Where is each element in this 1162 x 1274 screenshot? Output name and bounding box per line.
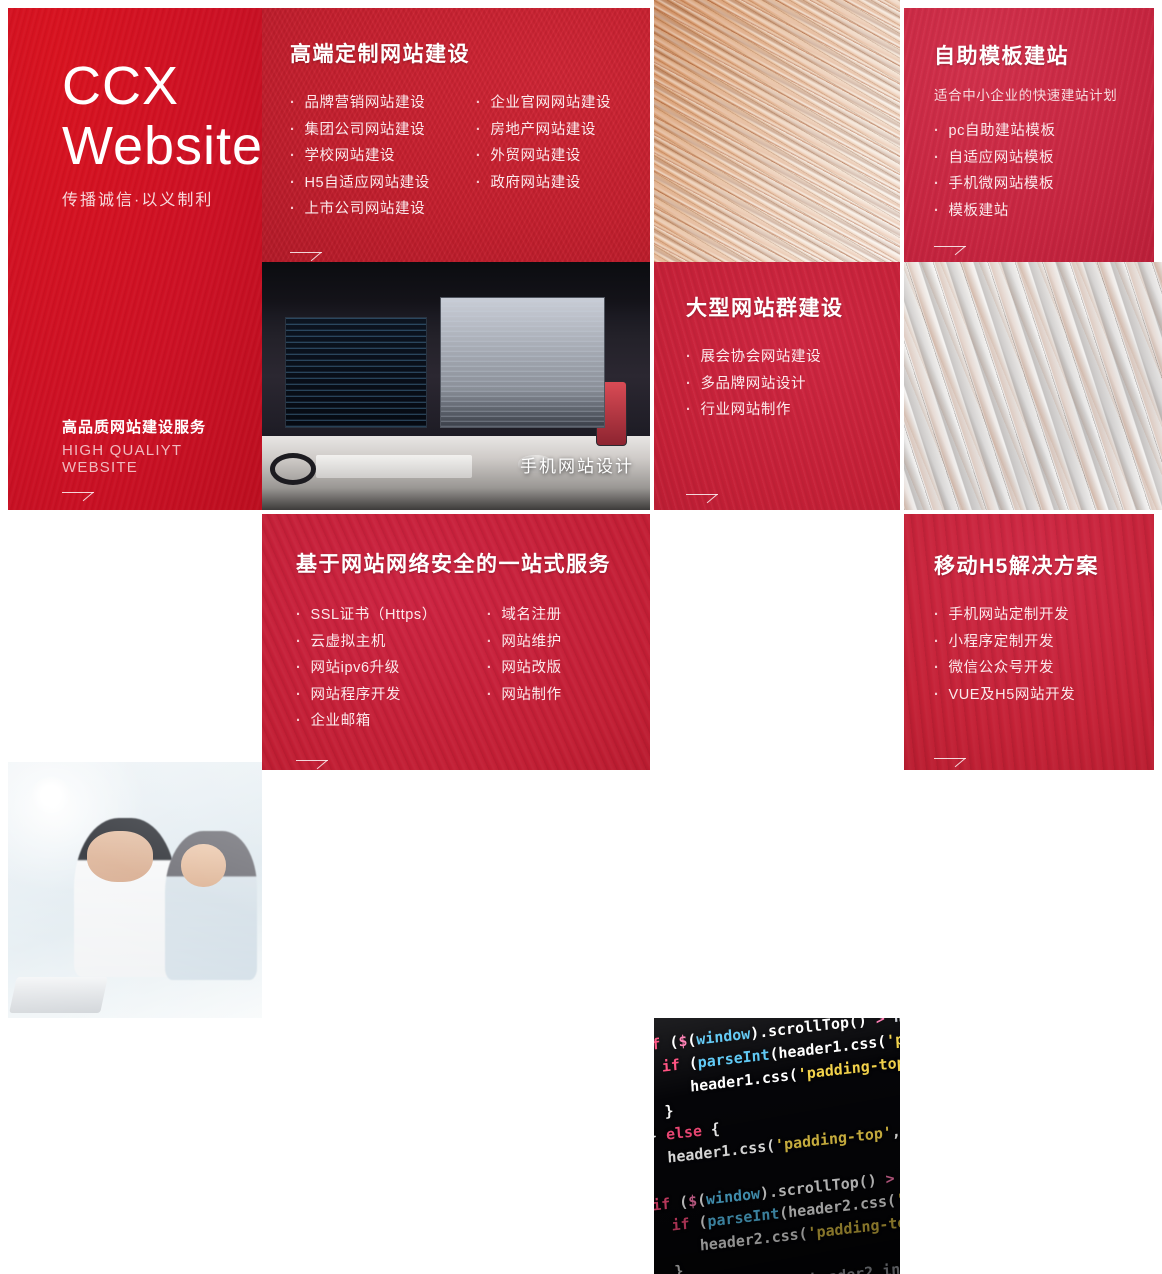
brand-footer-en: HIGH QUALIYT WEBSITE <box>62 442 262 476</box>
card-template-subtitle: 适合中小企业的快速建站计划 <box>934 84 1154 104</box>
card-security-list-col2: 域名注册 网站维护 网站改版 网站制作 <box>487 602 562 735</box>
list-item[interactable]: 小程序定制开发 <box>934 629 1154 656</box>
arrow-right-icon[interactable] <box>290 242 322 256</box>
brand-footer-cn: 高品质网站建设服务 <box>62 416 206 437</box>
list-item[interactable]: 域名注册 <box>487 602 562 629</box>
list-item[interactable]: 云虚拟主机 <box>296 629 437 656</box>
list-item[interactable]: 网站制作 <box>487 682 562 709</box>
card-template-title: 自助模板建站 <box>934 40 1154 70</box>
list-item[interactable]: 展会协会网站建设 <box>686 344 900 371</box>
card-cluster-title: 大型网站群建设 <box>686 292 900 322</box>
list-item[interactable]: 多品牌网站设计 <box>686 371 900 398</box>
page-root: CCX Website 传播诚信·以义制利 高品质网站建设服务 HIGH QUA… <box>0 0 1162 770</box>
list-item[interactable]: 外贸网站建设 <box>476 143 611 170</box>
list-item[interactable]: 手机微网站模板 <box>934 171 1154 198</box>
list-item[interactable]: 手机网站定制开发 <box>934 602 1154 629</box>
card-custom-title: 高端定制网站建设 <box>290 38 650 68</box>
list-item[interactable]: 网站维护 <box>487 629 562 656</box>
brand-title: CCX Website <box>62 56 262 177</box>
list-item[interactable]: 房地产网站建设 <box>476 117 611 144</box>
card-cluster-list: 展会协会网站建设 多品牌网站设计 行业网站制作 <box>686 344 900 424</box>
desk-photo-caption: 手机网站设计 <box>520 452 634 477</box>
arrow-right-icon[interactable] <box>686 484 718 498</box>
arrow-right-icon[interactable] <box>934 236 966 250</box>
marble-texture-image <box>904 262 1162 510</box>
list-item[interactable]: VUE及H5网站开发 <box>934 682 1154 709</box>
arrow-right-icon[interactable] <box>934 748 966 762</box>
card-custom-list-col2: 企业官网网站建设 房地产网站建设 外贸网站建设 政府网站建设 <box>476 90 611 223</box>
card-custom-website[interactable]: 高端定制网站建设 品牌营销网站建设 集团公司网站建设 学校网站建设 H5自适应网… <box>262 8 650 262</box>
card-template-list: pc自助建站模板 自适应网站模板 手机微网站模板 模板建站 <box>934 118 1154 224</box>
brand-slogan: 传播诚信·以义制利 <box>62 186 213 210</box>
brand-title-line1: CCX <box>62 56 262 116</box>
arrow-right-icon[interactable] <box>62 482 94 496</box>
list-item[interactable]: 企业邮箱 <box>296 708 437 735</box>
card-security-title: 基于网站网络安全的一站式服务 <box>296 548 650 578</box>
wood-grain-texture-image <box>654 0 900 262</box>
brand-panel[interactable]: CCX Website 传播诚信·以义制利 高品质网站建设服务 HIGH QUA… <box>8 8 262 510</box>
card-template-site[interactable]: 自助模板建站 适合中小企业的快速建站计划 pc自助建站模板 自适应网站模板 手机… <box>904 8 1154 262</box>
list-item[interactable]: 上市公司网站建设 <box>290 196 430 223</box>
card-security-list-col1: SSL证书（Https） 云虚拟主机 网站ipv6升级 网站程序开发 企业邮箱 <box>296 602 437 735</box>
card-mobile-h5[interactable]: 移动H5解决方案 手机网站定制开发 小程序定制开发 微信公众号开发 VUE及H5… <box>904 514 1154 770</box>
list-item[interactable]: 模板建站 <box>934 198 1154 225</box>
list-item[interactable]: 网站程序开发 <box>296 682 437 709</box>
card-mobile-title: 移动H5解决方案 <box>934 550 1154 580</box>
list-item[interactable]: SSL证书（Https） <box>296 602 437 629</box>
arrow-right-icon[interactable] <box>296 750 328 764</box>
list-item[interactable]: pc自助建站模板 <box>934 118 1154 145</box>
card-security-service[interactable]: 基于网站网络安全的一站式服务 SSL证书（Https） 云虚拟主机 网站ipv6… <box>262 514 650 770</box>
two-people-with-laptop-photo <box>8 762 262 1018</box>
list-item[interactable]: 微信公众号开发 <box>934 655 1154 682</box>
list-item[interactable]: 政府网站建设 <box>476 170 611 197</box>
list-item[interactable]: 品牌营销网站建设 <box>290 90 430 117</box>
code-text-block: if ($(window).scrollTop() > header1_init… <box>654 1018 900 1274</box>
photo-overlay <box>8 762 262 1018</box>
javascript-code-screen-photo: if ($(window).scrollTop() > header1_init… <box>654 1018 900 1274</box>
list-item[interactable]: 集团公司网站建设 <box>290 117 430 144</box>
list-item[interactable]: 企业官网网站建设 <box>476 90 611 117</box>
card-mobile-list: 手机网站定制开发 小程序定制开发 微信公众号开发 VUE及H5网站开发 <box>934 602 1154 708</box>
list-item[interactable]: 网站ipv6升级 <box>296 655 437 682</box>
phone-shape <box>596 381 627 445</box>
card-custom-list-col1: 品牌营销网站建设 集团公司网站建设 学校网站建设 H5自适应网站建设 上市公司网… <box>290 90 430 223</box>
list-item[interactable]: H5自适应网站建设 <box>290 170 430 197</box>
list-item[interactable]: 自适应网站模板 <box>934 145 1154 172</box>
desktop-workstation-photo: 手机网站设计 <box>262 262 650 510</box>
brand-title-line2: Website <box>62 116 262 176</box>
keyboard-shape <box>316 455 471 477</box>
card-site-cluster[interactable]: 大型网站群建设 展会协会网站建设 多品牌网站设计 行业网站制作 <box>654 262 900 510</box>
list-item[interactable]: 学校网站建设 <box>290 143 430 170</box>
list-item[interactable]: 网站改版 <box>487 655 562 682</box>
list-item[interactable]: 行业网站制作 <box>686 397 900 424</box>
